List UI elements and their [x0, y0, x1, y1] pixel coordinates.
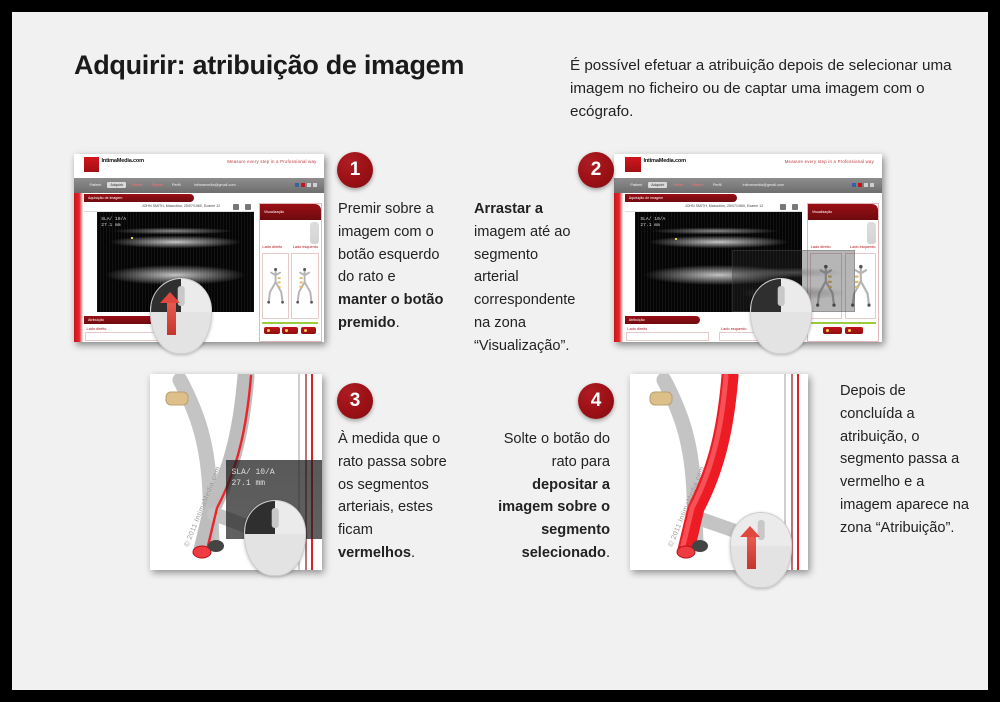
measure-marker — [131, 237, 133, 239]
nav-item-patient[interactable]: Patient — [87, 182, 105, 188]
step-2-caption: Arrastar a imagem até ao segmento arteri… — [474, 198, 586, 357]
folder-icon — [245, 204, 251, 210]
progress-bar — [262, 322, 318, 324]
step-badge-1: 1 — [337, 152, 373, 188]
logo-mark-icon — [625, 157, 641, 172]
body-silhouette-icon — [867, 222, 876, 244]
mouse-cursor-step1 — [150, 278, 212, 354]
globe-icon — [233, 204, 239, 210]
step-1-caption: Premir sobre a imagem com o botão esquer… — [338, 198, 446, 335]
save-button[interactable] — [823, 327, 841, 334]
nav-account-email: intimamedia@gmail.com — [743, 183, 785, 187]
side-label-right: Lado direito — [262, 245, 282, 249]
folder-icon — [792, 204, 798, 210]
nav-item-perfil[interactable]: Perfil — [710, 182, 725, 188]
step-number: 3 — [350, 390, 361, 412]
artery-tree-left[interactable] — [291, 253, 318, 319]
ultrasound-overlay-text: SLA/ 10/A 27.1 mm — [231, 467, 274, 489]
step-number: 4 — [591, 390, 602, 412]
help-icon — [313, 183, 317, 187]
nav-item-report[interactable]: Report — [149, 182, 166, 188]
intro-text: É possível efetuar a atribuição depois d… — [570, 54, 982, 123]
panel-title-acquire: Aquisição de imagem — [625, 194, 738, 202]
panel-title-assign: Atribuição — [84, 316, 159, 324]
nav-item-adquirir[interactable]: Adquirir — [648, 182, 667, 188]
save-button[interactable] — [264, 327, 280, 334]
step-badge-2: 2 — [578, 152, 614, 188]
assign-side-label-left: Lado esquerdo — [721, 327, 746, 331]
side-label-left: Lado esquerdo — [293, 245, 318, 249]
app-header: IntimaMedia.com Measure every step in a … — [74, 154, 324, 178]
record-icon — [301, 183, 305, 187]
final-note: Depois de concluída a atribuição, o segm… — [840, 380, 970, 539]
side-label-left: Lado esquerdo — [850, 245, 875, 249]
press-arrow-icon — [167, 303, 177, 336]
logo-text: IntimaMedia.com — [643, 158, 685, 164]
flag-icon — [852, 183, 856, 187]
ultrasound-overlay-text: SLA/ 10/A 27.1 mm — [101, 217, 126, 229]
mouse-cursor-step3 — [244, 500, 306, 576]
body-silhouette-icon — [310, 222, 319, 244]
header-tagline: Measure every step in a Professional way — [227, 159, 316, 164]
artery-tree-icon — [292, 254, 317, 318]
nav-item-perfil[interactable]: Perfil — [169, 182, 184, 188]
step-number: 1 — [350, 159, 361, 181]
artery-tree-icon — [263, 254, 288, 318]
release-arrow-icon — [747, 537, 757, 570]
nav-item-report[interactable]: Report — [689, 182, 706, 188]
nav-status-icons[interactable] — [852, 183, 874, 187]
image-caption-bar: JOHN SMITH, Masculino, 25/07/1960, Exame… — [625, 203, 802, 212]
panel-title-assign: Atribuição — [625, 316, 700, 324]
app-screenshot-step2[interactable]: IntimaMedia.com Measure every step in a … — [614, 154, 882, 342]
nav-item-patient[interactable]: Patient — [627, 182, 645, 188]
visualization-panel: Visualização Lado direito Lado esquerdo — [259, 203, 322, 342]
help-icon — [870, 183, 874, 187]
ultrasound-overlay-text: SLA/ 10/A 27.1 mm — [640, 217, 665, 229]
record-icon — [858, 183, 862, 187]
app-navbar[interactable]: Patient Adquirir Rever Report Perfil int… — [614, 178, 882, 192]
logo-text: IntimaMedia.com — [102, 158, 144, 164]
grid-icon — [864, 183, 868, 187]
nav-item-rever[interactable]: Rever — [670, 182, 686, 188]
artery-tree-right[interactable] — [262, 253, 289, 319]
mouse-wheel — [272, 508, 279, 527]
globe-icon — [780, 204, 786, 210]
assign-side-label-right: Lado direito — [627, 327, 647, 331]
mouse-cursor-step2 — [750, 278, 812, 354]
outer-frame: Adquirir: atribuição de imagem É possíve… — [0, 0, 1000, 702]
delete-button[interactable] — [845, 327, 863, 334]
step-3-caption: À medida que o rato passa sobre os segme… — [338, 428, 448, 565]
action-button-row[interactable] — [808, 327, 878, 334]
step-4-caption: Solte o botão do rato para depositar a i… — [482, 428, 610, 565]
header-tagline: Measure every step in a Professional way — [785, 159, 874, 164]
progress-bar — [811, 322, 876, 324]
logo-mark-icon — [84, 157, 99, 172]
assign-dropzone-right[interactable] — [626, 332, 709, 341]
slide-page: Adquirir: atribuição de imagem É possíve… — [12, 12, 988, 690]
reset-button[interactable] — [282, 327, 298, 334]
step-badge-3: 3 — [337, 383, 373, 419]
panel-title-view: Visualização — [260, 204, 321, 220]
app-header: IntimaMedia.com Measure every step in a … — [614, 154, 882, 178]
page-title: Adquirir: atribuição de imagem — [74, 50, 464, 81]
nav-account-email: intimamedia@gmail.com — [194, 183, 236, 187]
panel-title-acquire: Aquisição de imagem — [84, 194, 194, 202]
panel-title-view: Visualização — [808, 204, 878, 220]
flag-icon — [295, 183, 299, 187]
mouse-cursor-step4 — [730, 512, 792, 588]
assign-side-label: Lado direito — [87, 327, 107, 331]
app-navbar[interactable]: Patient Adquirir Rever Report Perfil int… — [74, 178, 324, 192]
nav-item-rever[interactable]: Rever — [129, 182, 145, 188]
grid-icon — [307, 183, 311, 187]
measure-marker — [675, 238, 677, 240]
step-badge-4: 4 — [578, 383, 614, 419]
step-number: 2 — [591, 159, 602, 181]
delete-button[interactable] — [301, 327, 317, 334]
side-label-right: Lado direito — [811, 245, 831, 249]
nav-status-icons[interactable] — [295, 183, 317, 187]
mouse-wheel — [778, 286, 785, 305]
action-button-row[interactable] — [260, 327, 321, 334]
image-caption-bar: JOHN SMITH, Masculino, 25/07/1960, Exame… — [84, 203, 254, 212]
nav-item-adquirir[interactable]: Adquirir — [107, 182, 126, 188]
